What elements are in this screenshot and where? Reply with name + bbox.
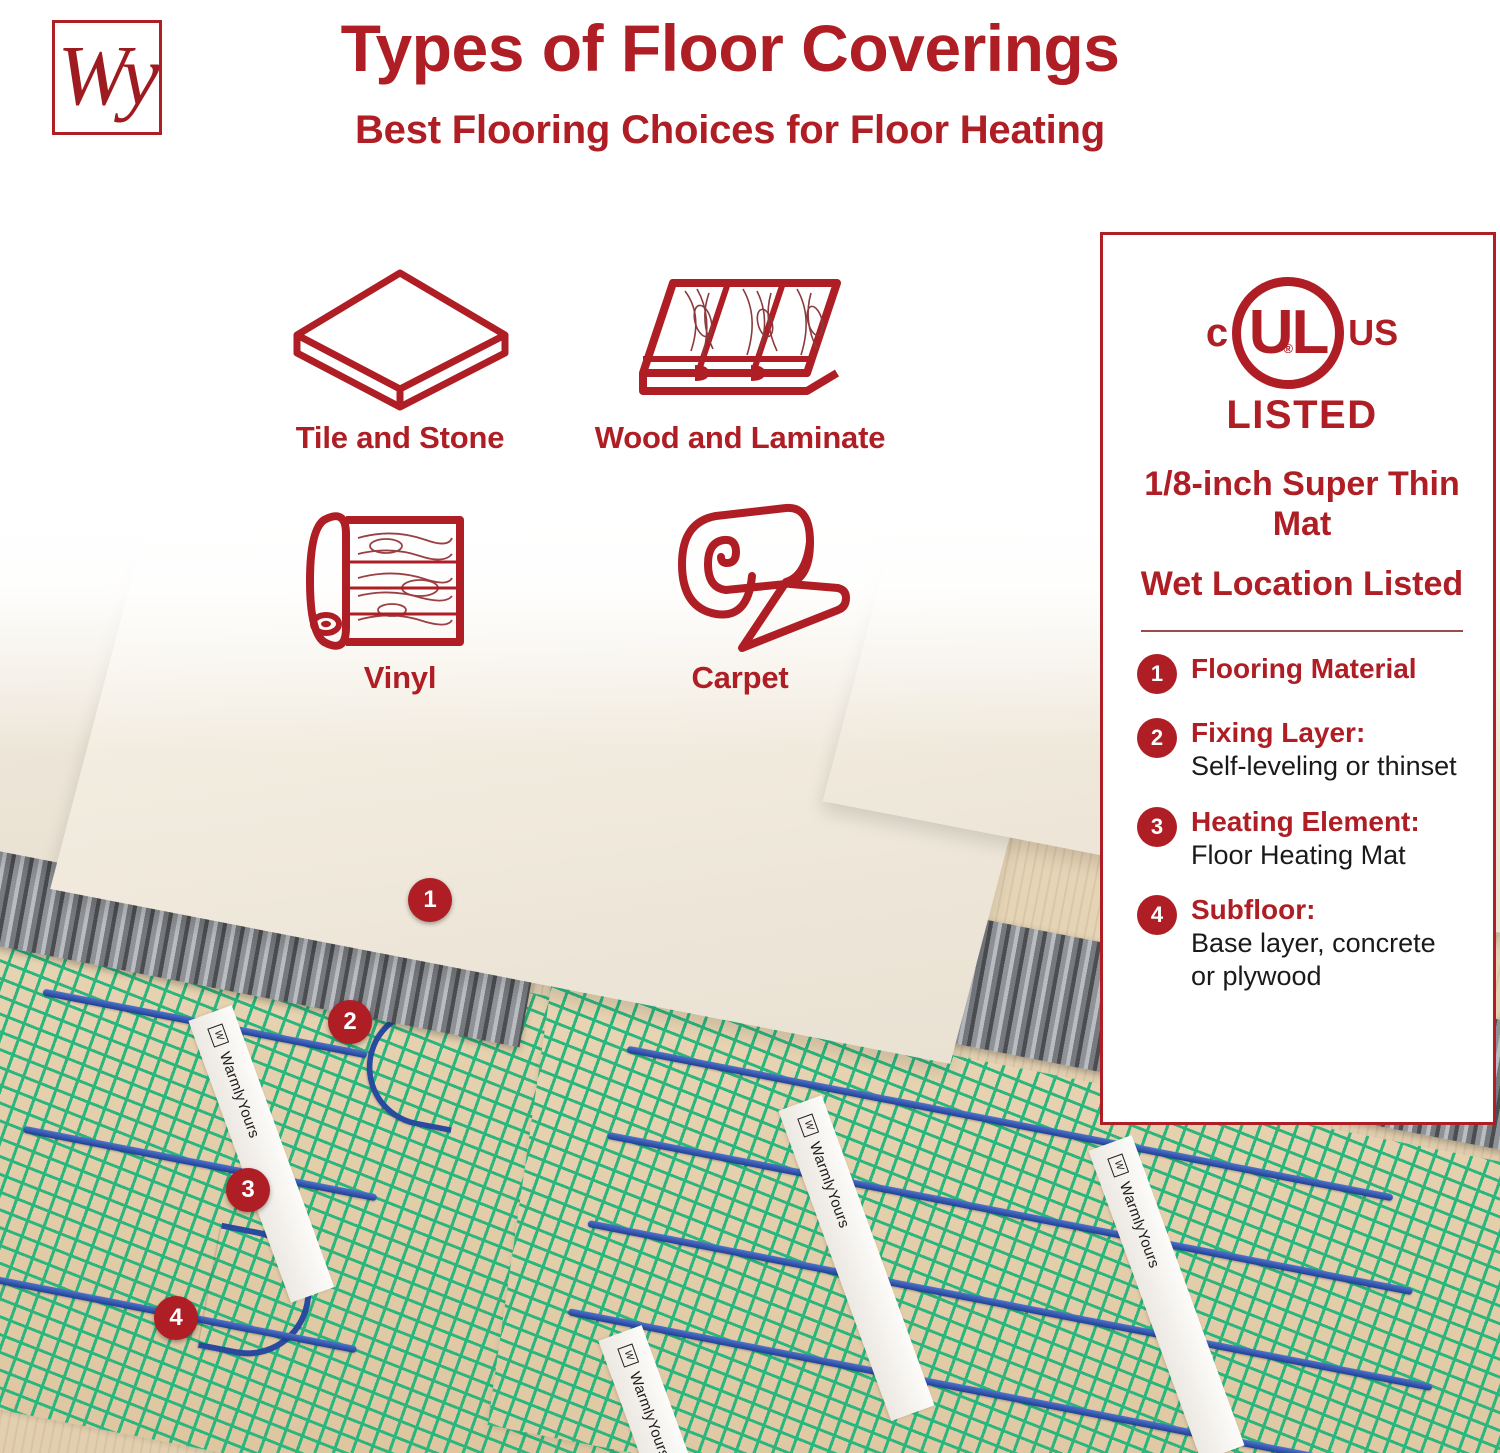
ul-listed-word: LISTED xyxy=(1137,393,1467,438)
covering-carpet: Carpet xyxy=(570,495,910,696)
floor-covering-icons: Tile and Stone xyxy=(230,255,950,755)
legend-number-badge: 3 xyxy=(1137,807,1177,847)
legend-number-badge: 2 xyxy=(1137,718,1177,758)
carpet-roll-icon xyxy=(570,495,910,660)
wy-logo-icon: W xyxy=(797,1113,819,1137)
legend-item: 1 Flooring Material xyxy=(1137,652,1467,694)
ul-c-prefix: c xyxy=(1206,313,1228,353)
legend-desc: Self-leveling or thinset xyxy=(1191,750,1467,782)
wy-logo-icon: W xyxy=(617,1343,639,1367)
legend-title: Subfloor: xyxy=(1191,893,1467,926)
covering-label: Wood and Laminate xyxy=(570,420,910,456)
wy-logo-icon: W xyxy=(1107,1153,1129,1177)
panel-divider xyxy=(1141,630,1463,632)
wood-plank-icon xyxy=(570,255,910,420)
tile-slab-icon xyxy=(230,255,570,420)
legend-item: 4 Subfloor: Base layer, concrete or plyw… xyxy=(1137,893,1467,992)
ul-circle-icon: UL ® xyxy=(1232,277,1344,389)
photo-badge-2: 2 xyxy=(328,1000,372,1044)
wy-logo-icon: Wy xyxy=(56,16,161,141)
wy-logo-icon: W xyxy=(207,1023,229,1047)
vinyl-roll-icon xyxy=(230,495,570,660)
photo-badge-4: 4 xyxy=(154,1296,198,1340)
photo-badge-1: 1 xyxy=(408,878,452,922)
ul-listing-panel: c UL ® US LISTED 1/8-inch Super Thin Mat… xyxy=(1100,232,1496,1125)
page-subtitle: Best Flooring Choices for Floor Heating xyxy=(190,108,1270,153)
covering-label: Carpet xyxy=(570,660,910,696)
legend-title: Heating Element: xyxy=(1191,805,1467,838)
ul-registered-icon: ® xyxy=(1283,341,1293,356)
photo-badge-4-label: 4 xyxy=(169,1304,182,1332)
infographic-stage: W WarmlyYours W WarmlyYours W WarmlyYour… xyxy=(0,0,1500,1453)
header: Wy Types of Floor Coverings Best Floorin… xyxy=(0,0,1500,190)
legend-item: 3 Heating Element: Floor Heating Mat xyxy=(1137,805,1467,871)
photo-badge-3: 3 xyxy=(226,1168,270,1212)
photo-badge-2-label: 2 xyxy=(343,1008,356,1036)
page-title: Types of Floor Coverings xyxy=(190,10,1270,86)
legend-item: 2 Fixing Layer: Self-leveling or thinset xyxy=(1137,716,1467,782)
ul-us-suffix: US xyxy=(1348,315,1398,351)
legend-desc: Floor Heating Mat xyxy=(1191,839,1467,871)
covering-wood-and-laminate: Wood and Laminate xyxy=(570,255,910,456)
legend-number-badge: 4 xyxy=(1137,895,1177,935)
legend-title: Fixing Layer: xyxy=(1191,716,1467,749)
ul-listed-mark: c UL ® US LISTED xyxy=(1137,277,1467,438)
photo-badge-3-label: 3 xyxy=(241,1176,254,1204)
legend-number-badge: 1 xyxy=(1137,654,1177,694)
legend-desc: Base layer, concrete or plywood xyxy=(1191,927,1467,992)
covering-tile-and-stone: Tile and Stone xyxy=(230,255,570,456)
ul-headline-wet-location: Wet Location Listed xyxy=(1137,564,1467,604)
covering-label: Tile and Stone xyxy=(230,420,570,456)
photo-badge-1-label: 1 xyxy=(423,886,436,914)
legend-title: Flooring Material xyxy=(1191,652,1467,685)
ul-headline-thin-mat: 1/8-inch Super Thin Mat xyxy=(1137,464,1467,544)
covering-label: Vinyl xyxy=(230,660,570,696)
covering-vinyl: Vinyl xyxy=(230,495,570,696)
